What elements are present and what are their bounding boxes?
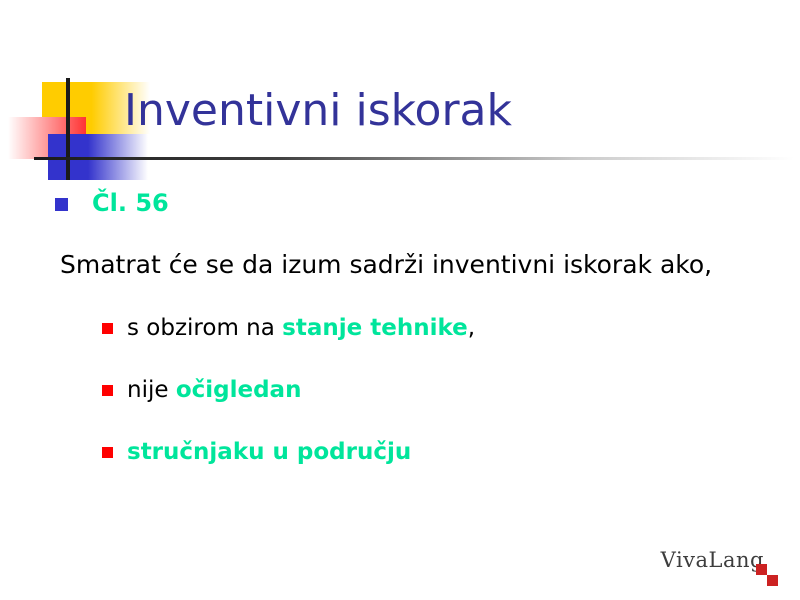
presentation-slide: Inventivni iskorak Čl. 56 Smatrat će se … bbox=[0, 0, 800, 600]
ornament-horizontal-rule bbox=[34, 157, 794, 160]
square-bullet-icon bbox=[102, 323, 113, 334]
ornament-vertical-rule bbox=[66, 78, 70, 180]
slide-body: Čl. 56 Smatrat će se da izum sadrži inve… bbox=[0, 186, 800, 468]
bullet-level2-prefix: s obzirom na bbox=[127, 315, 282, 341]
bullet-level2-highlight: očigledan bbox=[176, 377, 302, 403]
bullet-level1-label: Čl. 56 bbox=[92, 189, 169, 217]
body-paragraph: Smatrat će se da izum sadrži inventivni … bbox=[0, 248, 800, 282]
bullet-item-level2: nije očigledan bbox=[0, 374, 800, 406]
bullet-level2-prefix: nije bbox=[127, 377, 176, 403]
bullet-level2-highlight: stručnjaku u području bbox=[127, 439, 411, 465]
bullet-item-level1: Čl. 56 bbox=[0, 186, 800, 220]
bullet-level2-suffix: , bbox=[468, 315, 475, 341]
watermark-checker-icon bbox=[756, 564, 778, 586]
bullet-level2-highlight: stanje tehnike bbox=[282, 315, 468, 341]
bullet-item-level2: s obzirom na stanje tehnike, bbox=[0, 312, 800, 344]
square-bullet-icon bbox=[55, 198, 68, 211]
square-bullet-icon bbox=[102, 385, 113, 396]
watermark-label: VivaLang bbox=[661, 548, 764, 572]
slide-title: Inventivni iskorak bbox=[124, 84, 512, 138]
square-bullet-icon bbox=[102, 447, 113, 458]
bullet-item-level2: stručnjaku u području bbox=[0, 436, 800, 468]
